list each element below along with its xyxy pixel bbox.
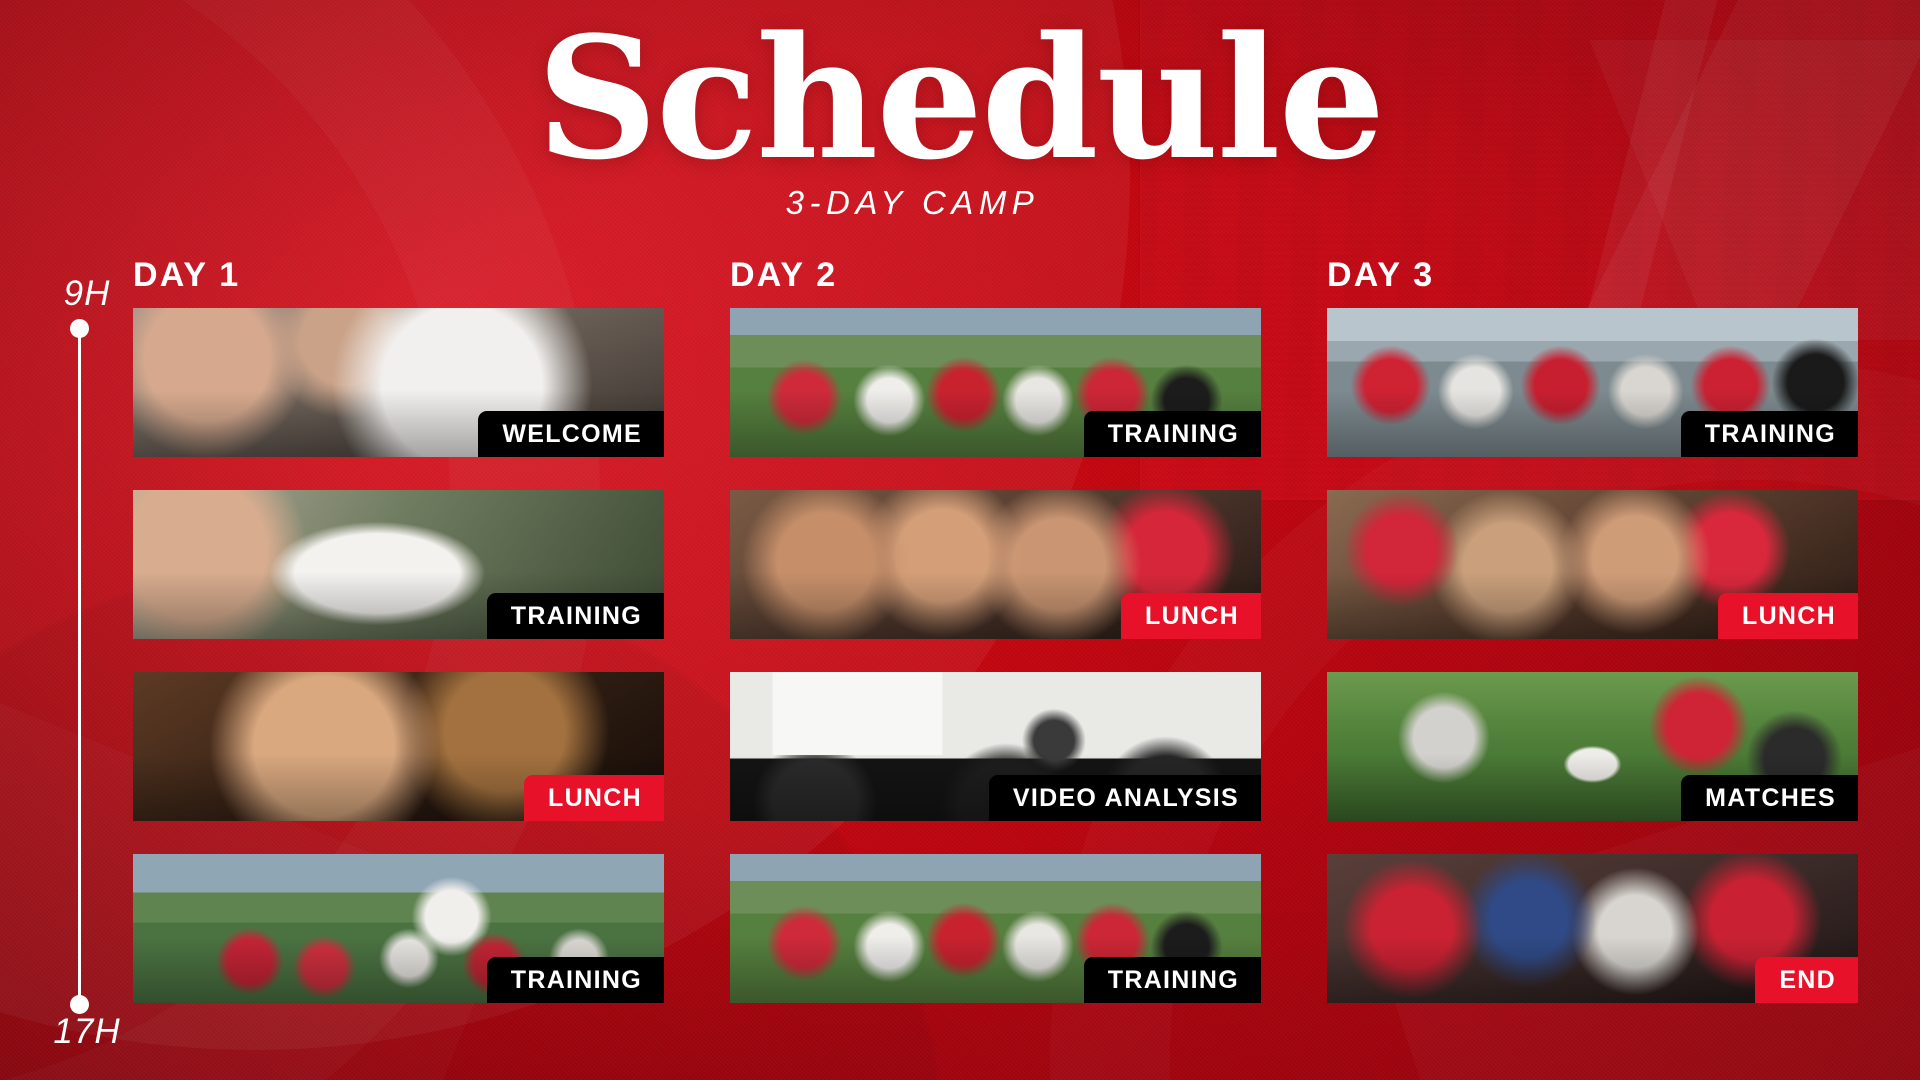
schedule-slot[interactable]: END <box>1327 854 1858 1003</box>
slot-label-badge: LUNCH <box>1121 593 1261 639</box>
slot-label-badge: VIDEO ANALYSIS <box>989 775 1261 821</box>
schedule-slot[interactable]: TRAINING <box>133 854 664 1003</box>
schedule-slot[interactable]: MATCHES <box>1327 672 1858 821</box>
timeline: 9H 17H <box>52 286 132 1056</box>
slot-label-badge: LUNCH <box>1718 593 1858 639</box>
schedule-slot[interactable]: TRAINING <box>730 854 1261 1003</box>
slot-label-badge: TRAINING <box>1084 411 1261 457</box>
page-title: Schedule <box>0 20 1920 178</box>
schedule-slot[interactable]: LUNCH <box>133 672 664 821</box>
schedule-slot[interactable]: LUNCH <box>730 490 1261 639</box>
slot-label-badge: TRAINING <box>487 957 664 1003</box>
day-column: DAY 1WELCOMETRAININGLUNCHTRAINING <box>133 255 664 1003</box>
slot-label-badge: TRAINING <box>1084 957 1261 1003</box>
slot-label-badge: TRAINING <box>1681 411 1858 457</box>
schedule-slot[interactable]: TRAINING <box>1327 308 1858 457</box>
schedule-slot[interactable]: VIDEO ANALYSIS <box>730 672 1261 821</box>
schedule-slot[interactable]: LUNCH <box>1327 490 1858 639</box>
schedule-slot[interactable]: TRAINING <box>133 490 664 639</box>
slot-label-badge: WELCOME <box>478 411 664 457</box>
timeline-start-label: 9H <box>42 274 132 314</box>
schedule-slot[interactable]: TRAINING <box>730 308 1261 457</box>
slot-label-badge: TRAINING <box>487 593 664 639</box>
slot-label-badge: MATCHES <box>1681 775 1858 821</box>
page-header: Schedule 3-DAY CAMP <box>0 20 1920 222</box>
day-column-title: DAY 1 <box>133 255 664 295</box>
day-column: DAY 2TRAININGLUNCHVIDEO ANALYSISTRAINING <box>730 255 1261 1003</box>
schedule-columns: DAY 1WELCOMETRAININGLUNCHTRAININGDAY 2TR… <box>133 255 1860 1003</box>
day-column-title: DAY 3 <box>1327 255 1858 295</box>
timeline-line <box>78 328 81 1004</box>
day-column: DAY 3TRAININGLUNCHMATCHESEND <box>1327 255 1858 1003</box>
schedule-slot[interactable]: WELCOME <box>133 308 664 457</box>
day-column-title: DAY 2 <box>730 255 1261 295</box>
slot-label-badge: END <box>1755 957 1858 1003</box>
slot-label-badge: LUNCH <box>524 775 664 821</box>
timeline-end-label: 17H <box>42 1012 132 1052</box>
page-subtitle: 3-DAY CAMP <box>0 184 1825 222</box>
